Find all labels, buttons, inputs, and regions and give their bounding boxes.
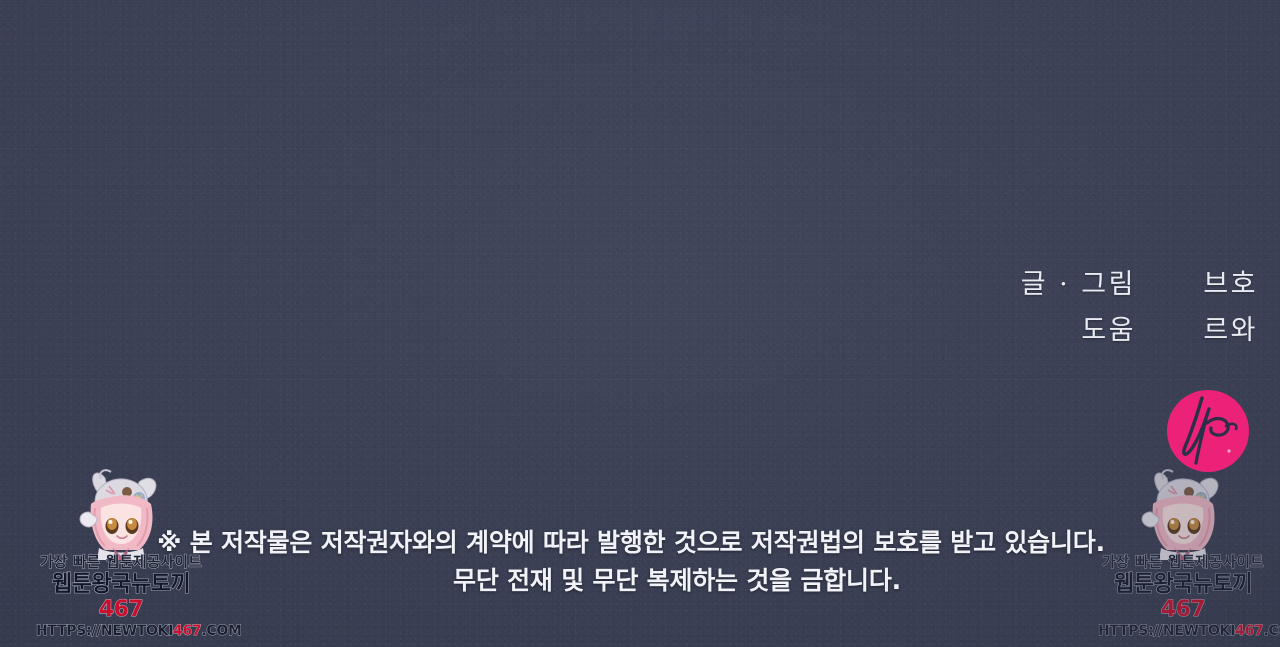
credit-name-value: 르와	[1162, 308, 1258, 354]
watermark-brand-number: 467	[1161, 597, 1205, 622]
watermark-url-prefix: HTTPS://NEWTOKI	[1098, 623, 1235, 639]
credit-role-label: 도움	[1081, 308, 1136, 354]
watermark-text-block: 가장 빠른 웹툰제공사이트 웹툰왕국뉴토끼467 HTTPS://NEWTOKI…	[36, 554, 206, 640]
credit-row-assistant: 도움르와	[1021, 308, 1258, 354]
watermark-bottom-right: 가장 빠른 웹툰제공사이트 웹툰왕국뉴토끼467 HTTPS://NEWTOKI…	[1098, 468, 1268, 640]
watermark-url-number: 467	[173, 623, 201, 639]
watermark-tagline: 가장 빠른 웹툰제공사이트	[1098, 554, 1268, 572]
watermark-url-suffix: .COM	[201, 623, 241, 639]
credits-block: 글 · 그림브호 도움르와	[1021, 262, 1258, 354]
watermark-brand-text: 웹툰왕국뉴토끼	[52, 572, 190, 597]
artist-signature-stamp-logo	[1166, 389, 1250, 473]
anime-bunny-mascot-icon	[1127, 468, 1239, 560]
watermark-tagline: 가장 빠른 웹툰제공사이트	[36, 554, 206, 572]
copyright-line-1: ※ 본 저작물은 저작권자와의 계약에 따라 발행한 것으로 저작권법의 보호를…	[157, 528, 1105, 557]
credit-row-author: 글 · 그림브호	[1021, 262, 1258, 308]
anime-bunny-mascot-icon	[65, 468, 177, 560]
credit-name-value: 브호	[1162, 262, 1258, 308]
watermark-url[interactable]: HTTPS://NEWTOKI467.COM	[1098, 622, 1268, 640]
watermark-text-block: 가장 빠른 웹툰제공사이트 웹툰왕국뉴토끼467 HTTPS://NEWTOKI…	[1098, 554, 1268, 640]
watermark-url[interactable]: HTTPS://NEWTOKI467.COM	[36, 622, 206, 640]
watermark-brand-text: 웹툰왕국뉴토끼	[1114, 572, 1252, 597]
watermark-brand: 웹툰왕국뉴토끼467	[1098, 572, 1268, 622]
watermark-url-suffix: .COM	[1263, 623, 1280, 639]
comic-page-canvas: 글 · 그림브호 도움르와 ※ 본 저작물은 저작권자와의 계약에 따라 발행한…	[0, 0, 1280, 647]
credit-role-label: 글 · 그림	[1021, 262, 1136, 308]
watermark-url-number: 467	[1235, 623, 1263, 639]
watermark-url-prefix: HTTPS://NEWTOKI	[36, 623, 173, 639]
watermark-brand-number: 467	[99, 597, 143, 622]
watermark-brand: 웹툰왕국뉴토끼467	[36, 572, 206, 622]
watermark-bottom-left: 가장 빠른 웹툰제공사이트 웹툰왕국뉴토끼467 HTTPS://NEWTOKI…	[36, 468, 206, 640]
